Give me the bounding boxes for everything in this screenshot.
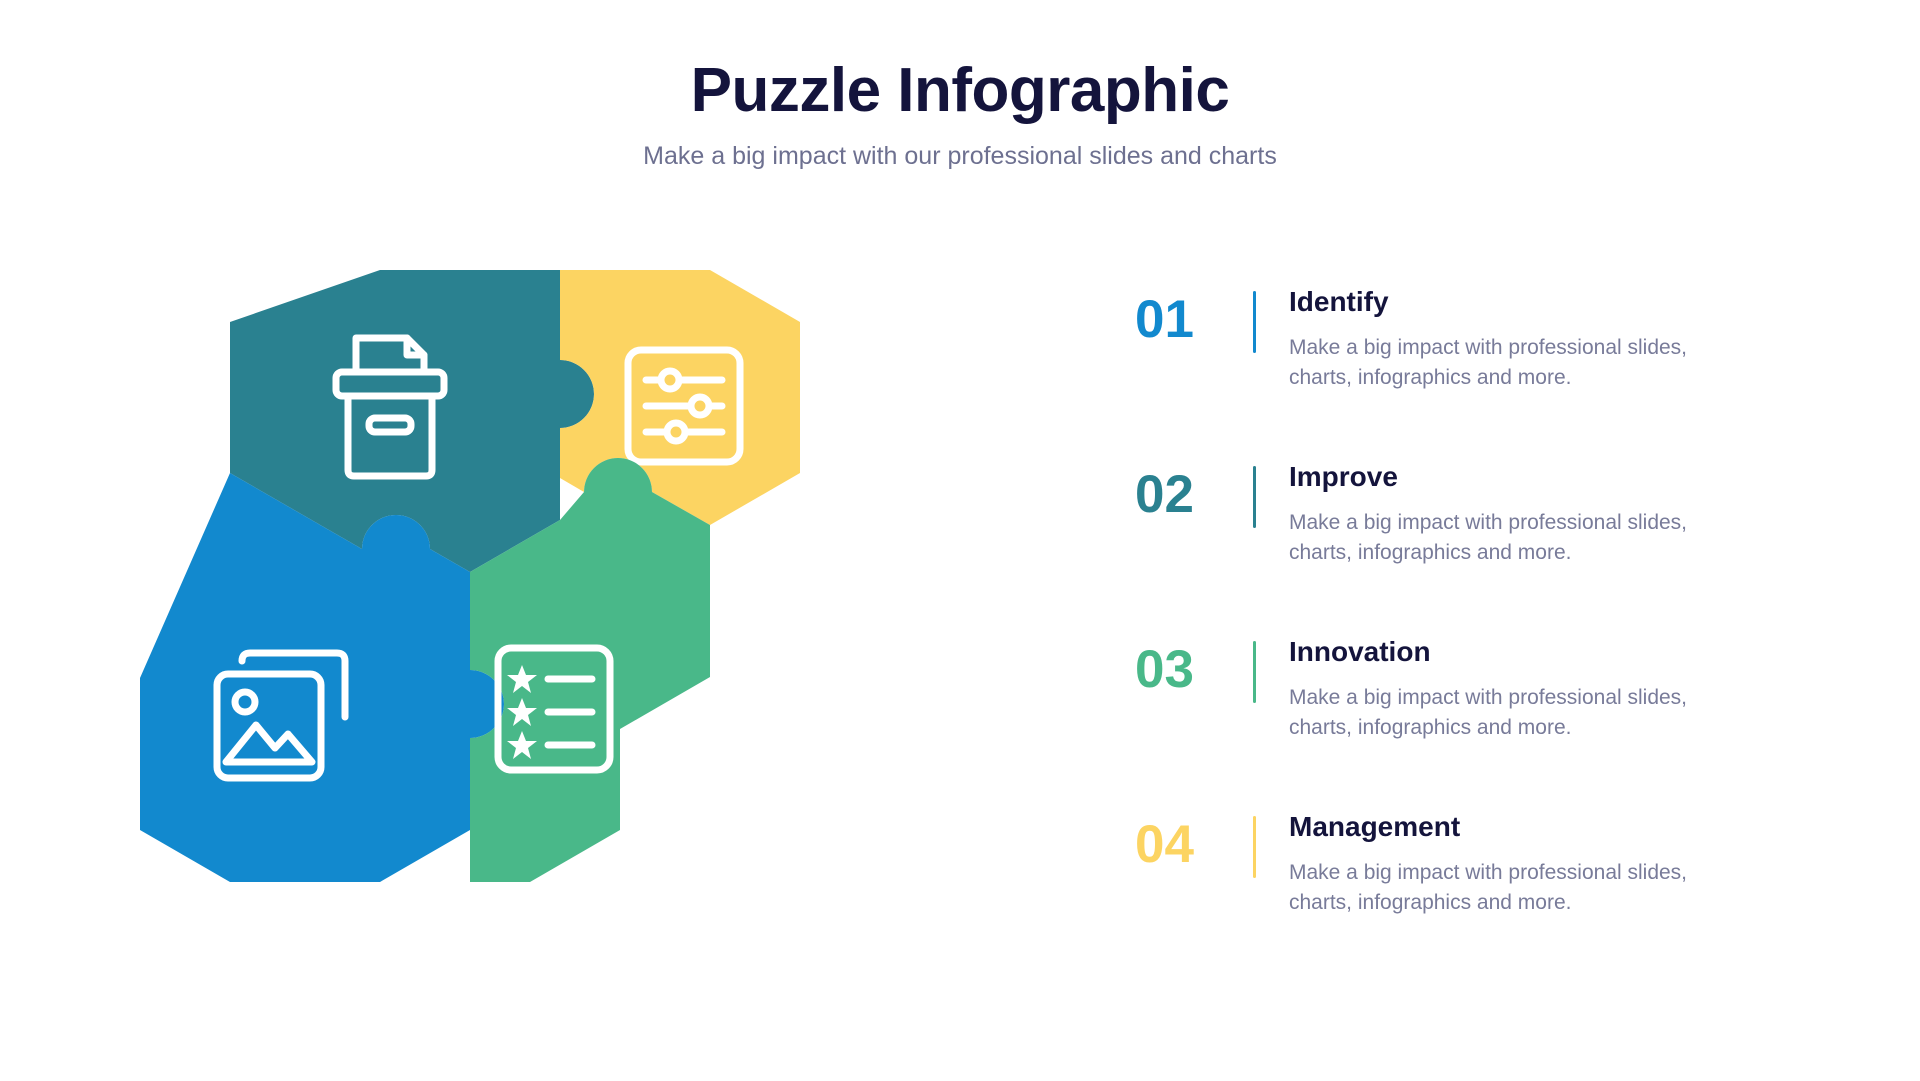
step-body-03: Innovation Make a big impact with profes… bbox=[1289, 635, 1835, 743]
page-subtitle: Make a big impact with our professional … bbox=[0, 141, 1920, 171]
step-item-02[interactable]: 02 Improve Make a big impact with profes… bbox=[1135, 460, 1835, 595]
step-divider-04 bbox=[1253, 816, 1256, 878]
step-number-03: 03 bbox=[1135, 635, 1253, 696]
step-description-03: Make a big impact with professional slid… bbox=[1289, 683, 1744, 744]
step-divider-03 bbox=[1253, 641, 1256, 703]
header: Puzzle Infographic Make a big impact wit… bbox=[0, 58, 1920, 171]
step-description-01: Make a big impact with professional slid… bbox=[1289, 333, 1744, 394]
step-description-04: Make a big impact with professional slid… bbox=[1289, 858, 1744, 919]
step-item-01[interactable]: 01 Identify Make a big impact with profe… bbox=[1135, 285, 1835, 420]
step-title-01: Identify bbox=[1289, 285, 1835, 319]
step-item-03[interactable]: 03 Innovation Make a big impact with pro… bbox=[1135, 635, 1835, 770]
step-body-02: Improve Make a big impact with professio… bbox=[1289, 460, 1835, 568]
step-divider-02 bbox=[1253, 466, 1256, 528]
step-title-02: Improve bbox=[1289, 460, 1835, 494]
step-divider-01 bbox=[1253, 291, 1256, 353]
step-number-01: 01 bbox=[1135, 285, 1253, 346]
step-number-02: 02 bbox=[1135, 460, 1253, 521]
step-title-03: Innovation bbox=[1289, 635, 1835, 669]
puzzle-diagram bbox=[100, 270, 1000, 1010]
step-body-04: Management Make a big impact with profes… bbox=[1289, 810, 1835, 918]
steps-list: 01 Identify Make a big impact with profe… bbox=[1135, 285, 1835, 945]
puzzle-svg bbox=[100, 270, 1000, 1010]
step-title-04: Management bbox=[1289, 810, 1835, 844]
page-title: Puzzle Infographic bbox=[0, 58, 1920, 123]
step-number-04: 04 bbox=[1135, 810, 1253, 871]
step-body-01: Identify Make a big impact with professi… bbox=[1289, 285, 1835, 393]
step-description-02: Make a big impact with professional slid… bbox=[1289, 508, 1744, 569]
step-item-04[interactable]: 04 Management Make a big impact with pro… bbox=[1135, 810, 1835, 945]
